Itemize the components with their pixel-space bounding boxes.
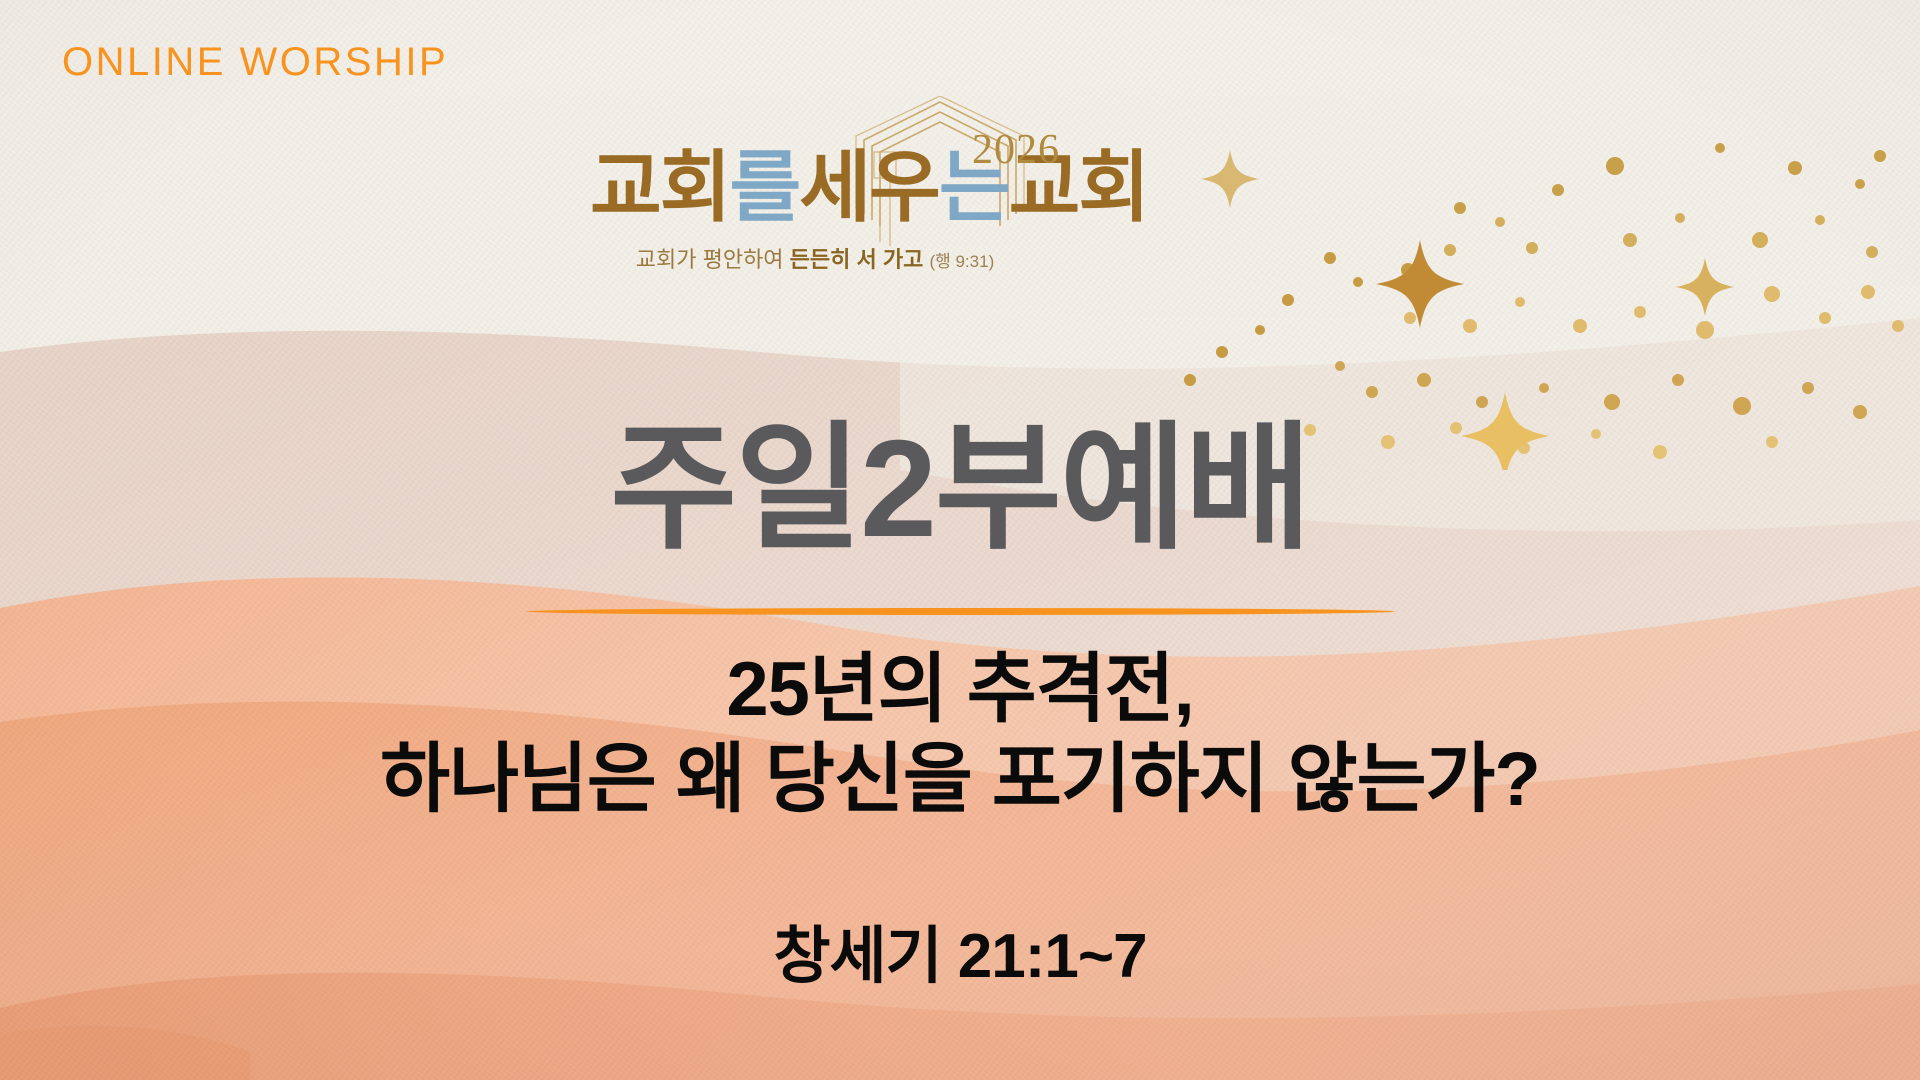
worship-slide: ONLINE WORSHIP 교회를세우는교회 2026 교회가 평: [0, 0, 1920, 1080]
scripture-reference: 창세기 21:1~7: [0, 905, 1920, 995]
logo-word-part-1: 교회: [590, 143, 730, 231]
logo-wordmark: 교회를세우는교회: [590, 148, 1150, 226]
church-logo: 교회를세우는교회 2026 교회가 평안하여 든든히 서 가고 (행 9:31): [580, 96, 1300, 306]
logo-verse-bold: 든든히 서 가고: [790, 247, 924, 272]
logo-word-part-2: 를: [730, 143, 800, 231]
sermon-title: 25년의 추격전, 하나님은 왜 당신을 포기하지 않는가?: [0, 648, 1920, 821]
sermon-title-line-1: 25년의 추격전,: [0, 648, 1920, 732]
logo-verse: 교회가 평안하여 든든히 서 가고 (행 9:31): [580, 242, 1050, 274]
service-title: 주일2부예배: [0, 420, 1920, 558]
logo-verse-plain: 교회가 평안하여: [636, 247, 790, 272]
logo-word-part-3: 세우: [799, 143, 939, 231]
sermon-title-line-2: 하나님은 왜 당신을 포기하지 않는가?: [0, 738, 1920, 822]
logo-verse-reference: (행 9:31): [929, 252, 994, 271]
title-divider: [525, 608, 1397, 615]
online-worship-label: ONLINE WORSHIP: [62, 40, 448, 85]
logo-year: 2026: [972, 126, 1060, 174]
